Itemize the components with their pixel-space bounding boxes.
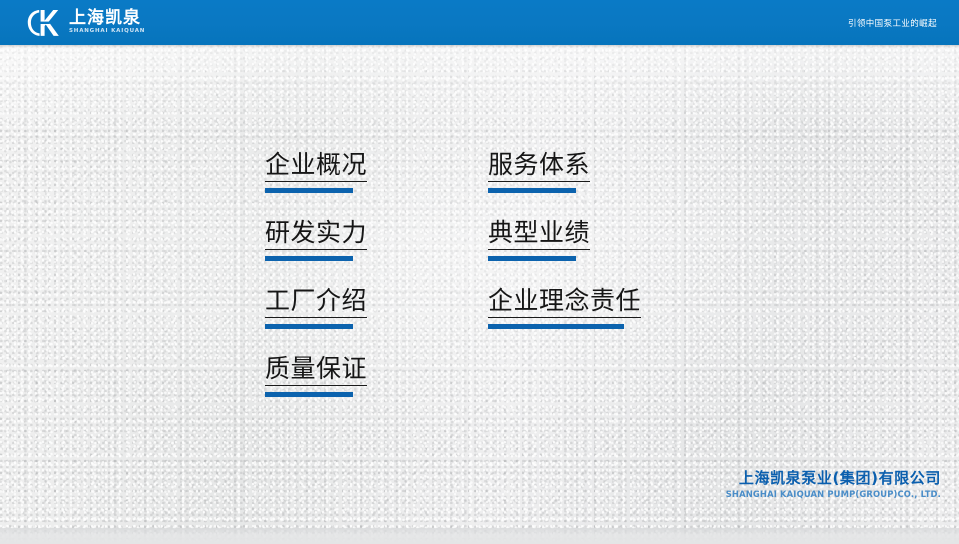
slide-canvas: 上海凯泉 SHANGHAI KAIQUAN 引领中国泵工业的崛起 企业概况 研发…	[0, 0, 959, 544]
menu-item-rd-strength[interactable]: 研发实力	[265, 218, 367, 261]
brand-logo-cn: 上海凯泉	[69, 10, 144, 27]
menu-item-label: 企业概况	[265, 150, 367, 182]
menu-item-accent-rule	[265, 256, 353, 261]
footer-band	[0, 528, 959, 544]
header-band	[0, 0, 959, 45]
brand-logo-en: SHANGHAI KAIQUAN	[69, 29, 145, 34]
menu-item-corporate-philosophy-responsibility[interactable]: 企业理念责任	[488, 286, 641, 329]
brand-logo[interactable]: 上海凯泉 SHANGHAI KAIQUAN	[26, 7, 144, 38]
menu-item-accent-rule	[488, 188, 576, 193]
menu-item-company-overview[interactable]: 企业概况	[265, 150, 367, 193]
footer-company-block: 上海凯泉泵业(集团)有限公司 SHANGHAI KAIQUAN PUMP(GRO…	[726, 471, 941, 498]
footer-company-en: SHANGHAI KAIQUAN PUMP(GROUP)CO., LTD.	[726, 490, 941, 498]
menu-item-accent-rule	[265, 392, 353, 397]
menu-item-accent-rule	[265, 324, 353, 329]
menu-item-accent-rule	[265, 188, 353, 193]
menu-item-label: 典型业绩	[488, 218, 590, 250]
menu-item-label: 企业理念责任	[488, 286, 641, 318]
menu-item-label: 工厂介绍	[265, 286, 367, 318]
brand-logo-wordmark: 上海凯泉 SHANGHAI KAIQUAN	[69, 10, 144, 34]
menu-item-accent-rule	[488, 324, 624, 329]
menu-item-typical-performance[interactable]: 典型业绩	[488, 218, 590, 261]
menu-item-label: 质量保证	[265, 354, 367, 386]
menu-item-quality-assurance[interactable]: 质量保证	[265, 354, 367, 397]
header-band-shadow	[0, 45, 959, 48]
menu-item-accent-rule	[488, 256, 576, 261]
menu-item-factory-introduction[interactable]: 工厂介绍	[265, 286, 367, 329]
menu-item-service-system[interactable]: 服务体系	[488, 150, 590, 193]
menu-item-label: 服务体系	[488, 150, 590, 182]
kaiquan-k-logo-icon	[26, 8, 62, 38]
menu-item-label: 研发实力	[265, 218, 367, 250]
footer-company-cn: 上海凯泉泵业(集团)有限公司	[726, 471, 941, 486]
slide-background-texture	[0, 0, 959, 544]
header-tagline: 引领中国泵工业的崛起	[848, 0, 937, 45]
